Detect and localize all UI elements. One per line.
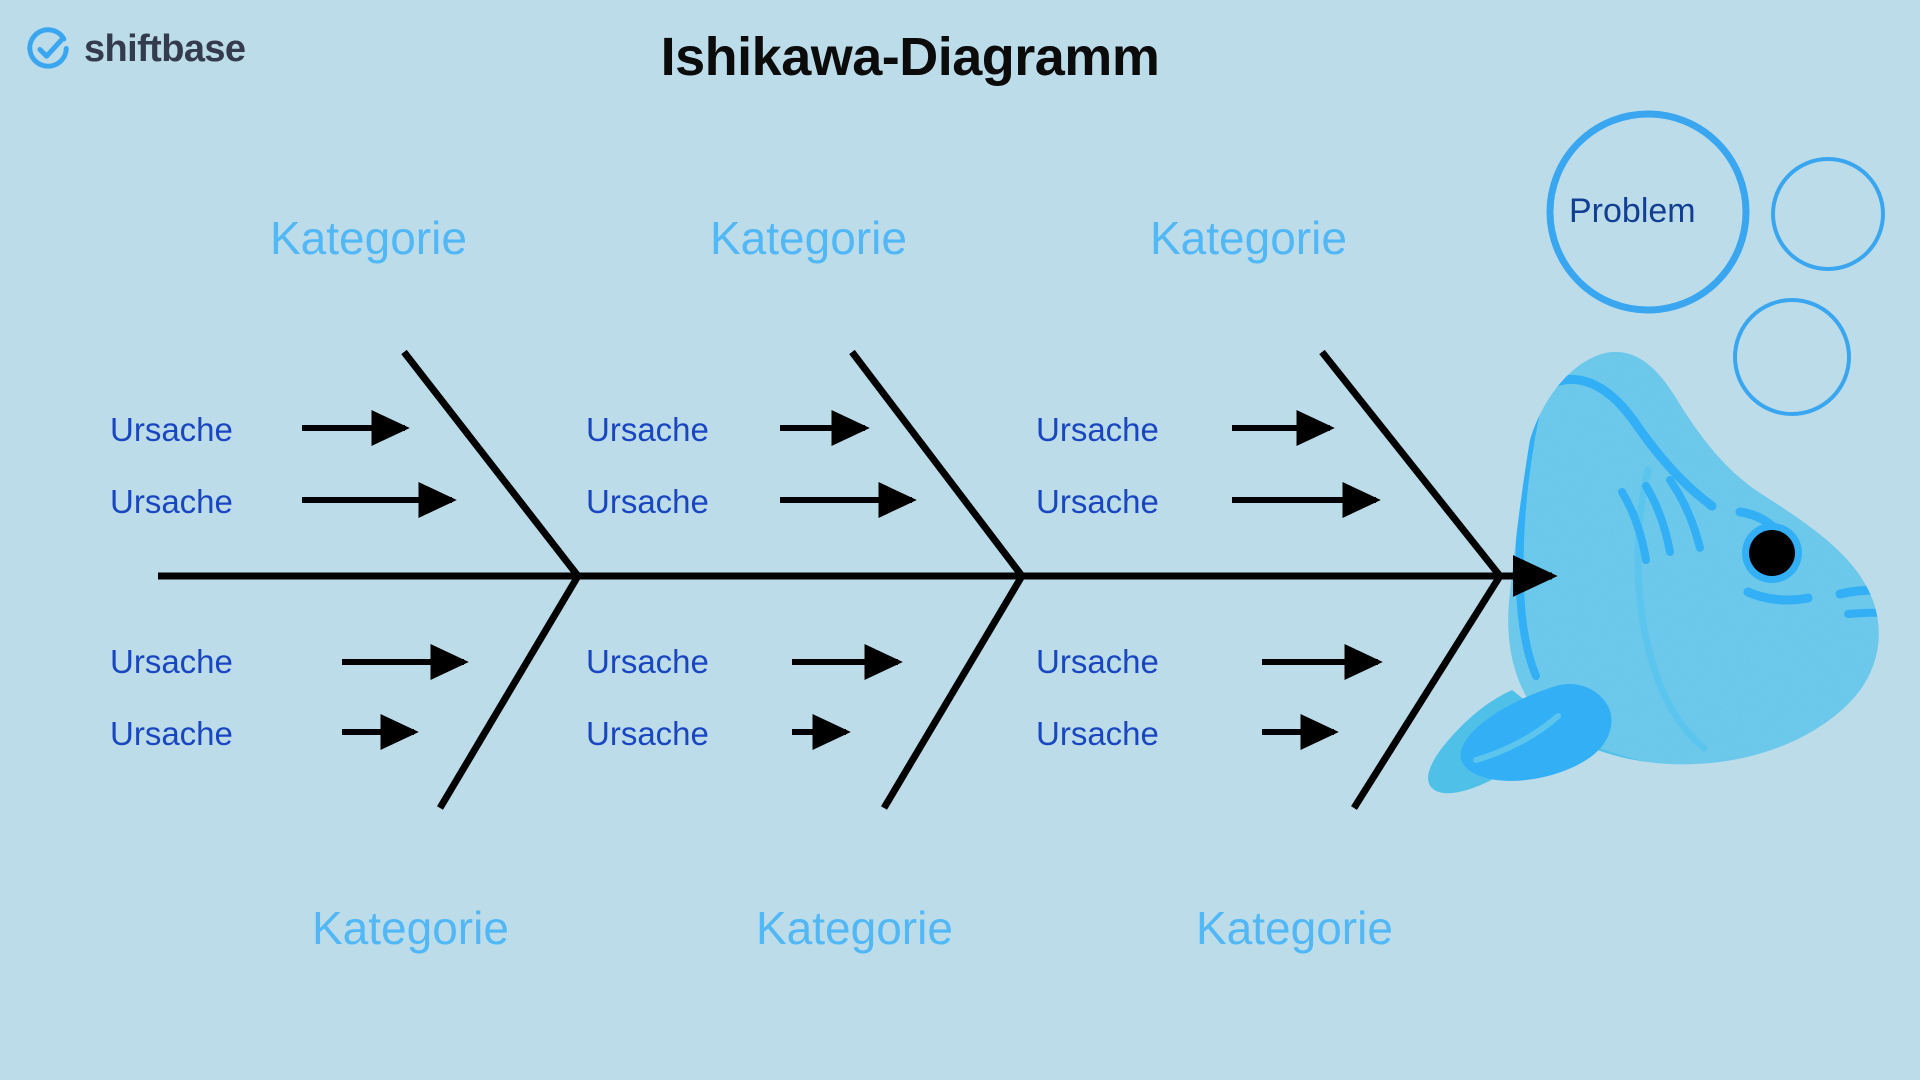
bone-bottom-0 (440, 576, 578, 808)
fishbone-canvas (0, 0, 1920, 1080)
bubble-medium[interactable] (1773, 159, 1883, 269)
cause-label-top-1a[interactable]: Ursache (586, 413, 709, 446)
cause-label-top-1b[interactable]: Ursache (586, 485, 709, 518)
bubble-small[interactable] (1735, 300, 1849, 414)
cause-label-bottom-2b[interactable]: Ursache (1036, 717, 1159, 750)
category-label-top-0[interactable]: Kategorie (270, 215, 467, 261)
cause-arrows (302, 428, 1378, 732)
category-label-bottom-0[interactable]: Kategorie (312, 905, 509, 951)
category-label-bottom-2[interactable]: Kategorie (1196, 905, 1393, 951)
cause-label-bottom-2a[interactable]: Ursache (1036, 645, 1159, 678)
cause-label-bottom-1b[interactable]: Ursache (586, 717, 709, 750)
bone-lines (404, 352, 1500, 808)
bone-bottom-1 (884, 576, 1022, 808)
category-label-bottom-1[interactable]: Kategorie (756, 905, 953, 951)
cause-label-top-2a[interactable]: Ursache (1036, 413, 1159, 446)
cause-label-bottom-0a[interactable]: Ursache (110, 645, 233, 678)
cause-label-bottom-0b[interactable]: Ursache (110, 717, 233, 750)
bone-top-1 (852, 352, 1022, 576)
ishikawa-diagram-page: shiftbase Ishikawa-Diagramm (0, 0, 1920, 1080)
bone-top-0 (404, 352, 578, 576)
category-label-top-2[interactable]: Kategorie (1150, 215, 1347, 261)
bone-top-2 (1322, 352, 1500, 576)
cause-label-top-2b[interactable]: Ursache (1036, 485, 1159, 518)
cause-label-bottom-1a[interactable]: Ursache (586, 645, 709, 678)
cause-label-top-0a[interactable]: Ursache (110, 413, 233, 446)
problem-bubble-label[interactable]: Problem (1569, 194, 1696, 228)
category-label-top-1[interactable]: Kategorie (710, 215, 907, 261)
fish-eye (1749, 530, 1795, 576)
cause-label-top-0b[interactable]: Ursache (110, 485, 233, 518)
